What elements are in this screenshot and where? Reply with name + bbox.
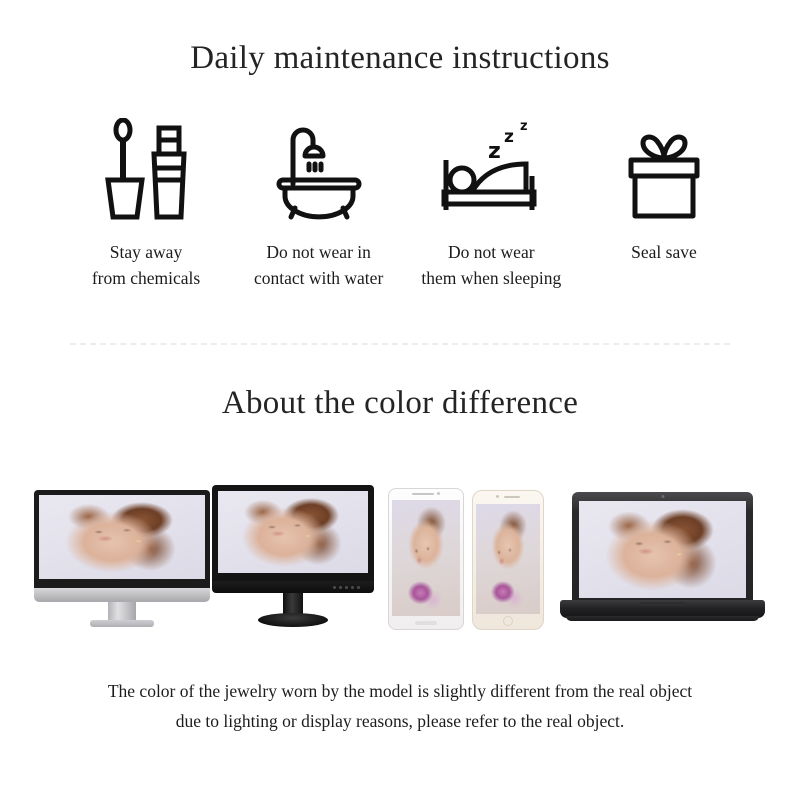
maintenance-item-sleeping: z z z Do not wear them when sleeping <box>405 112 577 291</box>
iphone-earpiece-area <box>473 495 543 498</box>
android-screen <box>392 500 460 616</box>
iphone-smartphone <box>472 490 544 630</box>
laptop-lid <box>572 492 753 604</box>
webcam-icon <box>661 495 664 498</box>
monitor-screen <box>218 491 368 573</box>
android-smartphone <box>388 488 464 630</box>
front-camera-icon <box>437 492 440 495</box>
android-home-button <box>415 621 437 625</box>
section-divider <box>70 343 730 345</box>
color-difference-note: The color of the jewelry worn by the mod… <box>60 676 740 736</box>
model-photo-earring <box>39 495 205 579</box>
svg-text:z: z <box>504 127 514 147</box>
android-body <box>388 488 464 630</box>
maintenance-item-chemicals: Stay away from chemicals <box>60 112 232 291</box>
person-sleeping-in-bed-icon: z z z <box>436 112 546 222</box>
iphone-home-button <box>503 616 513 626</box>
svg-text:z: z <box>488 139 501 164</box>
laptop-front-edge <box>566 616 759 621</box>
maintenance-item-water: Do not wear in contact with water <box>233 112 405 291</box>
model-photo-flowers <box>476 504 540 614</box>
model-photo-flowers <box>392 500 460 616</box>
speaker-grille-icon <box>504 496 520 498</box>
imac-chin <box>34 588 210 602</box>
gift-box-icon <box>621 112 707 222</box>
imac-stand-foot <box>90 620 154 627</box>
monitor-control-buttons <box>333 586 360 589</box>
monitor-bezel <box>212 485 374 589</box>
monitor-stand-base <box>258 613 328 627</box>
iphone-screen <box>476 504 540 614</box>
imac-bezel <box>34 490 210 594</box>
product-info-page: Daily maintenance instructions Stay away… <box>0 0 800 800</box>
laptop-screen <box>579 501 746 598</box>
model-photo-earring <box>579 501 746 598</box>
desktop-imac-monitor <box>34 490 210 630</box>
android-earpiece-area <box>389 492 463 495</box>
device-showcase-row <box>0 470 800 630</box>
maintenance-icon-row: Stay away from chemicals Do not wear in … <box>60 112 750 291</box>
desktop-black-monitor <box>212 485 374 630</box>
iphone-body <box>472 490 544 630</box>
speaker-grille-icon <box>412 493 434 495</box>
front-camera-icon <box>496 495 499 498</box>
laptop-trackpad <box>638 602 686 606</box>
color-difference-title: About the color difference <box>0 385 800 422</box>
maintenance-item-caption: Do not wear them when sleeping <box>421 239 561 291</box>
maintenance-item-caption: Seal save <box>631 239 697 265</box>
maintenance-title: Daily maintenance instructions <box>0 40 800 77</box>
maintenance-item-caption: Stay away from chemicals <box>92 239 200 291</box>
laptop-computer <box>560 492 765 630</box>
imac-stand-neck <box>108 602 136 621</box>
imac-screen <box>39 495 205 579</box>
model-photo-earring <box>218 491 368 573</box>
mascara-brush-and-bottle-icon <box>102 112 190 222</box>
svg-text:z: z <box>520 119 528 134</box>
bathtub-with-shower-icon <box>271 112 367 222</box>
maintenance-item-seal: Seal save <box>578 112 750 265</box>
maintenance-item-caption: Do not wear in contact with water <box>254 239 383 291</box>
